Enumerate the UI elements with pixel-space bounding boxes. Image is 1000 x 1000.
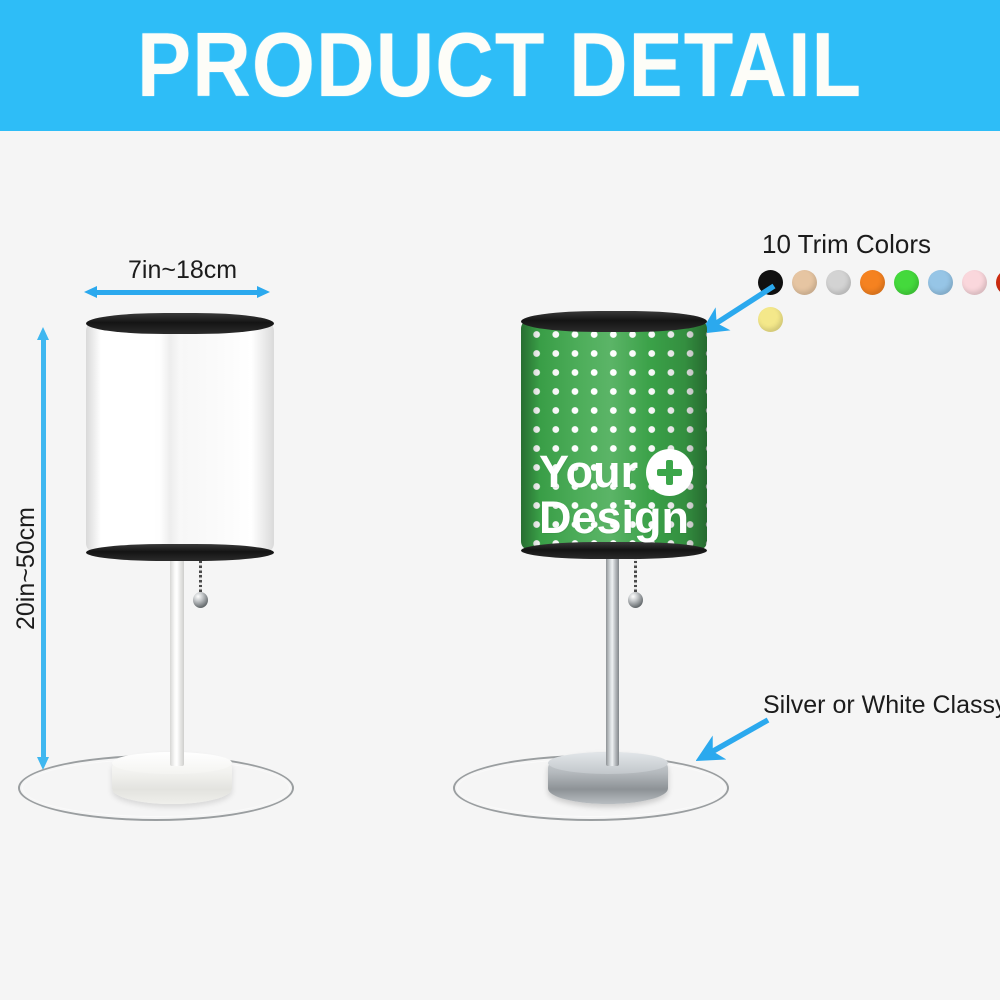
base-finish-pointer-arrow (696, 714, 774, 764)
design-line-2: Design (539, 496, 693, 540)
trim-swatch-pink[interactable] (962, 270, 987, 295)
width-dimension-arrow (84, 287, 270, 297)
width-dimension-label: 7in~18cm (128, 256, 237, 285)
green-shade-surface: Your Design (521, 321, 707, 549)
height-dimension-label: 20in~50cm (12, 507, 41, 630)
design-text-design: Design (539, 496, 689, 540)
trim-swatch-green[interactable] (894, 270, 919, 295)
trim-colors-pointer-arrow (700, 282, 780, 338)
trim-colors-title: 10 Trim Colors (762, 229, 931, 260)
green-shade-trim-top (521, 311, 707, 332)
trim-swatch-light-gray[interactable] (826, 270, 851, 295)
white-shade-surface (86, 323, 274, 551)
green-lamp-chain-ball[interactable] (628, 592, 643, 608)
base-finish-label: Silver or White Classy (763, 691, 1000, 720)
arrow-shaft (94, 290, 260, 295)
trim-swatch-tan[interactable] (792, 270, 817, 295)
design-text-your: Your (539, 450, 638, 494)
green-shade-trim-bottom (521, 542, 707, 559)
product-detail-page: PRODUCT DETAIL 7in~18cm 20in~50cm 10 Tri… (0, 0, 1000, 1000)
white-shade-trim-bottom (86, 544, 274, 561)
silver-lamp-pole (606, 556, 619, 766)
trim-swatch-orange[interactable] (860, 270, 885, 295)
arrow-shaft (41, 337, 46, 760)
green-lamp-shade: Your Design (521, 311, 707, 559)
trim-swatch-light-blue[interactable] (928, 270, 953, 295)
design-line-1: Your (539, 449, 693, 496)
white-shade-trim-top (86, 313, 274, 334)
trim-swatch-red[interactable] (996, 270, 1000, 295)
page-title: PRODUCT DETAIL (137, 13, 862, 119)
arrow-head-right (257, 286, 270, 298)
plus-icon (646, 449, 693, 496)
header-banner: PRODUCT DETAIL (0, 0, 1000, 131)
white-lamp-chain-ball[interactable] (193, 592, 208, 608)
trim-swatch-row-1 (758, 270, 1000, 295)
white-lamp-pole (170, 556, 184, 766)
shade-design-artwork: Your Design (539, 449, 693, 540)
white-lamp-shade (86, 313, 274, 561)
